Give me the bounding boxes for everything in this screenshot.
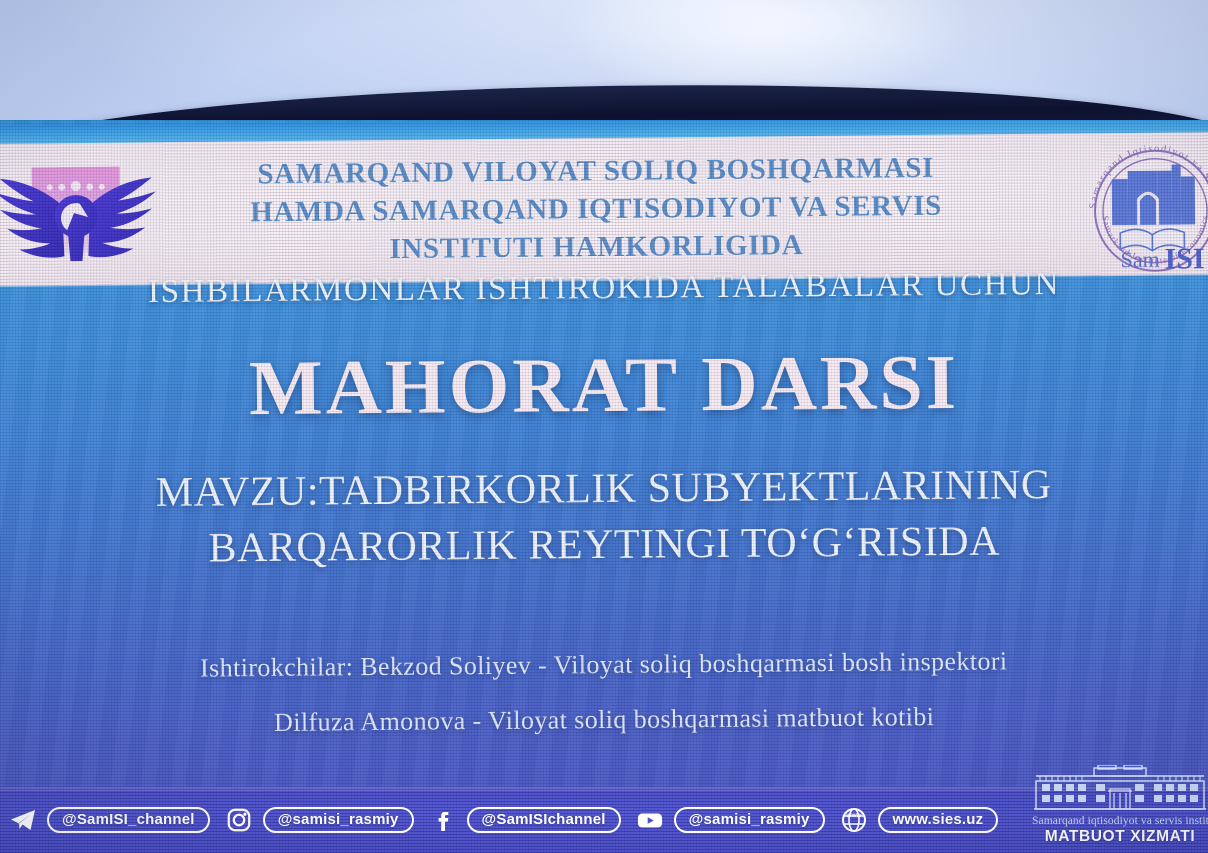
samisi-seal-icon: · Samarqand Iqtisodiyot va Servis · Sama… (1081, 136, 1208, 277)
telegram-handle[interactable]: @SamISI_channel (47, 807, 210, 833)
website-url[interactable]: www.sies.uz (878, 807, 999, 833)
led-screen: SAMARQAND VILOYAT SOLIQ BOSHQARMASI HAMD… (0, 120, 1208, 853)
slide-kicker: ISHBILARMONLAR ISHTIROKIDA TALABALAR UCH… (0, 265, 1208, 313)
organization-title: SAMARQAND VILOYAT SOLIQ BOSHQARMASI HAMD… (165, 148, 1026, 270)
telegram-icon (8, 805, 38, 835)
youtube-handle[interactable]: @samisi_rasmiy (674, 807, 825, 833)
slide-body: ISHBILARMONLAR ISHTIROKIDA TALABALAR UCH… (0, 270, 1208, 747)
press-logo-line-2: MATBUOT XIZMATI (1032, 828, 1208, 846)
press-service-logo: Samarqand iqtisodiyot va servis institut… (1032, 765, 1208, 851)
instagram-icon (224, 805, 254, 835)
svg-text:www: www (845, 812, 862, 819)
slide-participants: Ishtirokchilar: Bekzod Soliyev - Viloyat… (0, 632, 1208, 753)
slide-topic: MAVZU:TADBIRKORLIK SUBYEKTLARINING BARQA… (0, 456, 1208, 579)
facebook-handle[interactable]: @SamISIchannel (467, 807, 621, 833)
facebook-icon (428, 805, 458, 835)
participant-line-2: Dilfuza Amonova - Viloyat soliq boshqarm… (0, 687, 1208, 753)
globe-icon: www (839, 805, 869, 835)
social-footer-bar: @SamISI_channel @samisi_rasmiy @SamISIch… (0, 787, 1208, 853)
social-website[interactable]: www www.sies.uz (839, 805, 999, 835)
institute-building-icon (1032, 765, 1208, 817)
topic-line-2: BARQARORLIK REYTINGI TO‘G‘RISIDA (0, 512, 1208, 579)
slide-headline: MAHORAT DARSI (0, 336, 1208, 435)
social-youtube[interactable]: @samisi_rasmiy (635, 805, 825, 835)
header-band: SAMARQAND VILOYAT SOLIQ BOSHQARMASI HAMD… (0, 132, 1208, 286)
screenshot-stage: SAMARQAND VILOYAT SOLIQ BOSHQARMASI HAMD… (0, 0, 1208, 853)
social-facebook[interactable]: @SamISIchannel (428, 805, 621, 835)
press-logo-line-1: Samarqand iqtisodiyot va servis institut… (1032, 815, 1208, 827)
topic-line-1: MAVZU:TADBIRKORLIK SUBYEKTLARINING (0, 456, 1208, 523)
social-telegram[interactable]: @SamISI_channel (8, 805, 210, 835)
instagram-handle[interactable]: @samisi_rasmiy (263, 807, 414, 833)
social-instagram[interactable]: @samisi_rasmiy (224, 805, 414, 835)
eagle-emblem-icon (0, 160, 161, 280)
youtube-icon (635, 805, 665, 835)
